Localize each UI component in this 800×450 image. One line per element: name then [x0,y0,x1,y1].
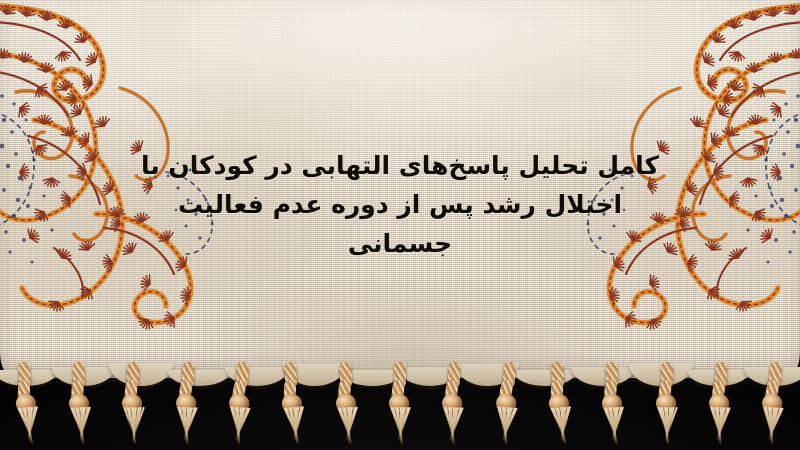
tassel [488,361,525,449]
tassel-skirt [120,407,146,447]
tassel-skirt [654,407,680,447]
tassel-fringe [0,362,800,450]
tassel-skirt [334,406,362,447]
slide-title: کامل تحلیل پاسخ‌های التهابی در کودکان با… [100,146,700,263]
title-line-2: اختلال رشد پس از دوره عدم فعالیت [100,185,700,224]
tassel-skirt [281,406,310,448]
title-line-1: کامل تحلیل پاسخ‌های التهابی در کودکان با [100,146,700,185]
tassel [222,361,259,449]
tassel-skirt [14,406,43,448]
tassel-skirt [224,406,253,448]
tassel [118,362,148,448]
tassel [652,362,682,448]
tassel [542,361,579,449]
tassel-skirt [172,406,200,447]
tassel [437,361,470,448]
tassel-skirt [547,406,576,448]
title-line-3: جسمانی [100,224,700,263]
tassel-skirt [757,406,786,448]
tassel [385,362,415,448]
tassel-skirt [490,406,519,448]
tassel [63,361,96,448]
tassel [755,361,792,449]
tassel [170,361,203,448]
tassel [8,361,45,449]
tassel-skirt [439,406,467,447]
tassel [597,361,630,448]
tassel [330,361,363,448]
tassel-skirt [600,406,628,447]
tassel-skirt [387,407,413,447]
tassel [275,361,312,449]
tassel [703,361,736,448]
tassel-skirt [67,406,95,447]
tassel-skirt [705,406,733,447]
slide-canvas: کامل تحلیل پاسخ‌های التهابی در کودکان با… [0,0,800,450]
